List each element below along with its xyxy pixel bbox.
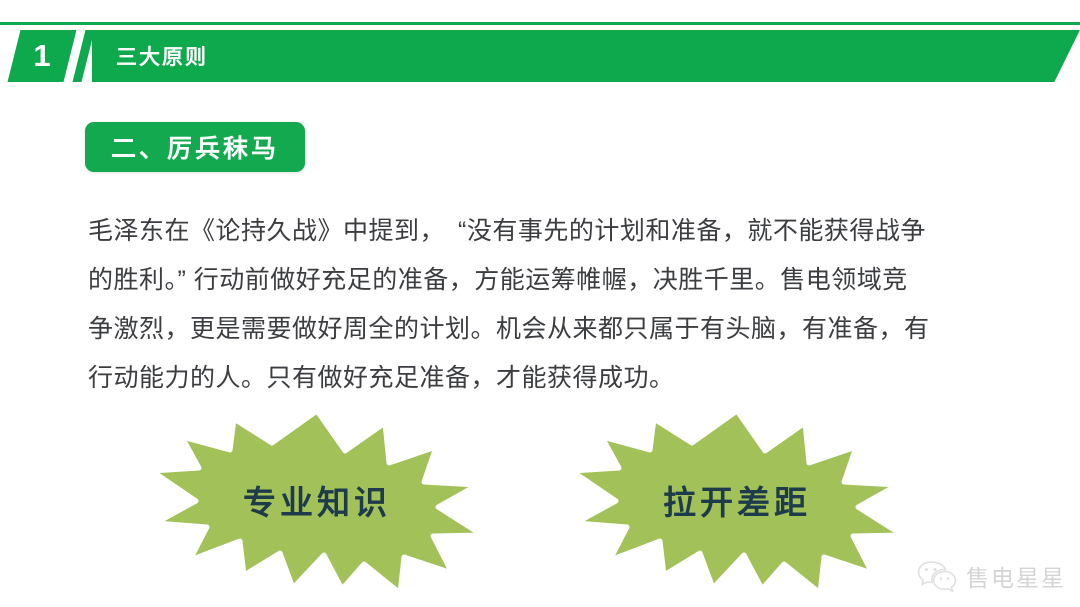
section-heading-label: 二、厉兵秣马 [111, 129, 279, 165]
slide-canvas: 1 三大原则 二、厉兵秣马 毛泽东在《论持久战》中提到， “没有事先的计划和准备… [0, 0, 1080, 607]
header-banner: 1 三大原则 [0, 30, 1080, 82]
body-paragraph: 毛泽东在《论持久战》中提到， “没有事先的计划和准备，就不能获得战争 的胜利。”… [88, 207, 998, 403]
header-title-band [92, 30, 1080, 82]
top-accent-line [0, 22, 1080, 25]
header-title: 三大原则 [92, 30, 208, 82]
watermark: 售电星星 [917, 559, 1066, 593]
section-heading-chip: 二、厉兵秣马 [85, 122, 305, 172]
starburst-callout: 拉开差距 [572, 405, 902, 595]
wechat-icon [917, 560, 957, 592]
watermark-text: 售电星星 [966, 559, 1066, 593]
section-number-label: 1 [14, 30, 70, 82]
starburst-label: 拉开差距 [572, 405, 902, 595]
body-line: 的胜利。” 行动前做好充足的准备，方能运筹帷幄，决胜千里。售电领域竞 [88, 256, 998, 305]
body-line: 行动能力的人。只有做好充足准备，才能获得成功。 [88, 354, 998, 403]
starburst-label: 专业知识 [152, 405, 482, 595]
body-line: 毛泽东在《论持久战》中提到， “没有事先的计划和准备，就不能获得战争 [88, 207, 998, 256]
body-line: 争激烈，更是需要做好周全的计划。机会从来都只属于有头脑，有准备，有 [88, 305, 998, 354]
starburst-callout: 专业知识 [152, 405, 482, 595]
